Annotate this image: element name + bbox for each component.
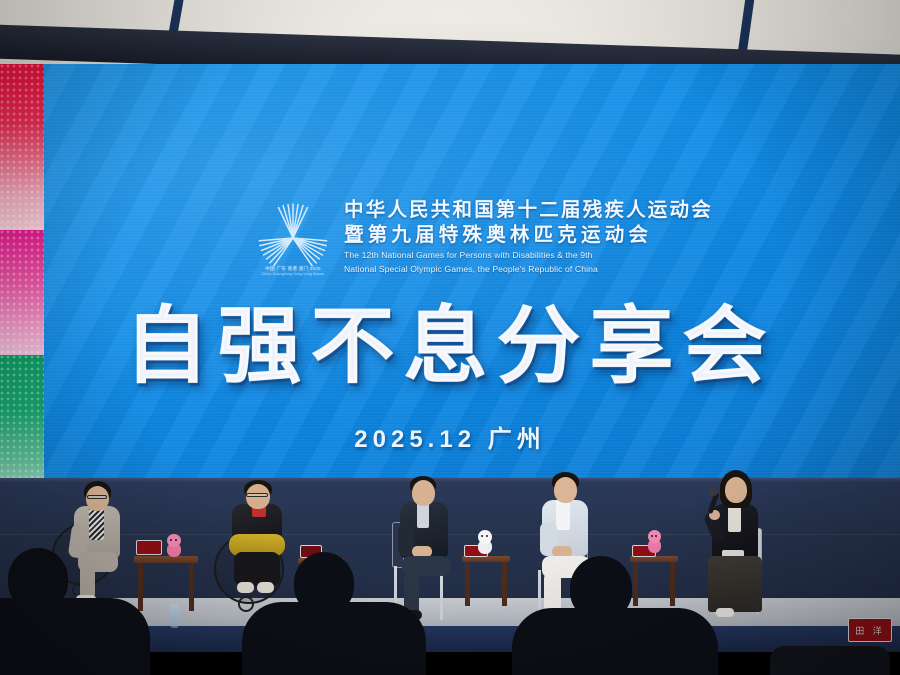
side-table-1-leg <box>189 563 194 611</box>
mascot-head <box>167 534 181 547</box>
panelist-2-glasses <box>246 493 268 497</box>
header-line1-cn: 中华人民共和国第十二届残疾人运动会 <box>344 198 713 223</box>
emblem-caption: 中国·广东 香港 澳门 2025 China Guangdong Hong Ko… <box>250 266 336 276</box>
header-line1-en: The 12th National Games for Persons with… <box>344 249 713 261</box>
audience-body <box>242 602 426 675</box>
panelist-4-head <box>554 477 577 503</box>
mascot-pink-1 <box>165 534 183 557</box>
emblem-caption-en: China Guangdong Hong Kong Macao <box>250 272 336 276</box>
header-line2-en: National Special Olympic Games, the Peop… <box>344 263 713 275</box>
water-bottle <box>170 604 179 628</box>
audience-silhouette-left <box>0 548 150 675</box>
stage-photo-scene: 中国·广东 香港 澳门 2025 China Guangdong Hong Ko… <box>0 0 900 675</box>
panelist-3-head <box>412 480 435 506</box>
placard-floor-name: 田 洋 <box>848 618 892 642</box>
mascot-head <box>478 530 492 544</box>
ceiling <box>0 0 900 72</box>
audience-body <box>512 608 718 675</box>
microphone-head <box>709 487 718 496</box>
panelist-4-undershirt <box>556 500 570 530</box>
mascot-pink-2 <box>646 530 663 553</box>
side-table-3-leg <box>465 562 470 606</box>
audience-silhouette-center <box>236 552 426 675</box>
side-table-3-leg <box>502 562 507 606</box>
led-screen: 中国·广东 香港 澳门 2025 China Guangdong Hong Ko… <box>0 64 900 484</box>
header-line2-cn: 暨第九届特殊奥林匹克运动会 <box>344 223 713 248</box>
panelist-3-chair-leg <box>440 570 443 620</box>
host-head <box>725 477 747 503</box>
emblem-caption-cn: 中国·广东 香港 澳门 2025 <box>265 266 321 271</box>
panelist-1-glasses <box>87 495 107 499</box>
color-block-red <box>0 64 44 230</box>
host-inner-top <box>728 506 741 532</box>
audience-silhouette-right <box>508 556 718 675</box>
emblem-header-row: 中国·广东 香港 澳门 2025 China Guangdong Hong Ko… <box>256 196 676 288</box>
mascot-white-1 <box>476 530 494 554</box>
side-table-3 <box>462 556 510 610</box>
panelist-1-inner-shirt <box>89 508 104 540</box>
event-title: 自强不息分享会 <box>0 304 900 388</box>
games-header-text: 中华人民共和国第十二届残疾人运动会 暨第九届特殊奥林匹克运动会 The 12th… <box>344 196 713 288</box>
event-date-place: 2025.12 广州 <box>0 419 900 454</box>
audience-body <box>0 598 150 675</box>
games-emblem-icon: 中国·广东 香港 澳门 2025 China Guangdong Hong Ko… <box>256 196 330 274</box>
audience-chair-back <box>770 646 890 675</box>
host-shoe <box>716 608 734 617</box>
